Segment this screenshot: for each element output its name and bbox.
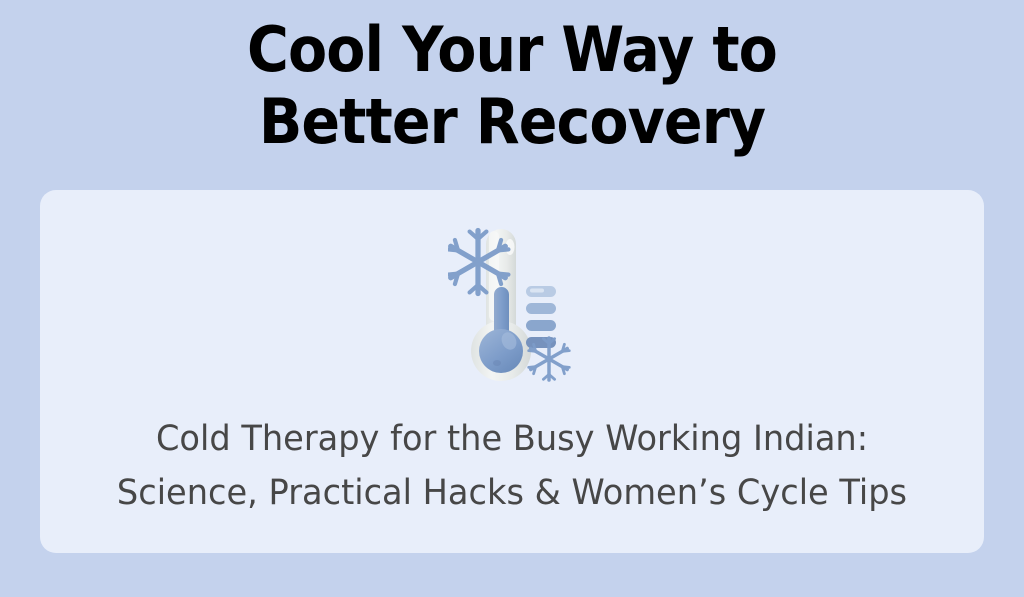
card-subtitle-line-2: Science, Practical Hacks & Women’s Cycle… bbox=[59, 466, 965, 520]
content-card: Cold Therapy for the Busy Working Indian… bbox=[40, 190, 984, 553]
thermometer-ticks bbox=[526, 286, 556, 348]
page-title: Cool Your Way to Better Recovery bbox=[0, 14, 1024, 158]
slide-canvas: Cool Your Way to Better Recovery bbox=[0, 0, 1024, 597]
page-title-line-2: Better Recovery bbox=[41, 86, 983, 158]
card-subtitle-line-1: Cold Therapy for the Busy Working Indian… bbox=[59, 412, 965, 466]
page-title-line-1: Cool Your Way to bbox=[41, 14, 983, 86]
cold-thermometer-icon bbox=[40, 222, 984, 392]
card-subtitle: Cold Therapy for the Busy Working Indian… bbox=[40, 412, 984, 520]
